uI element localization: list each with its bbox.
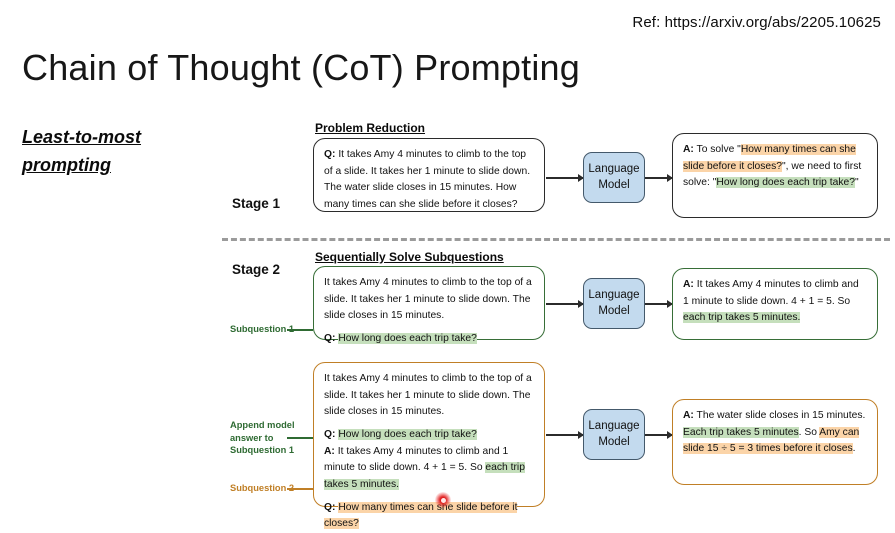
stage2-round1-question-highlight: How long does each trip take? [338, 333, 477, 344]
stage2-round1-answer-highlight: each trip takes 5 minutes. [683, 312, 800, 323]
subquestion-2-label: Subquestion 2 [230, 482, 294, 495]
language-model-label: LanguageModel [588, 162, 639, 193]
question-prefix: Q: [324, 502, 335, 513]
subquestion-2-tick [287, 488, 313, 490]
stage2-round2-answer-box: A: The water slide closes in 15 minutes.… [672, 399, 878, 485]
arrow-prompt-to-model-2 [546, 303, 583, 305]
stage2-round1-question: Q: How long does each trip take? [324, 331, 534, 348]
arrow-prompt-to-model-1 [546, 177, 583, 179]
stage2-round2-q1-highlight: How long does each trip take? [338, 429, 477, 440]
question-prefix: Q: [324, 149, 335, 160]
stage2-round1-answer-box: A: It takes Amy 4 minutes to climb and 1… [672, 268, 878, 340]
arrow-prompt-to-model-3 [546, 434, 583, 436]
stage2-round2-prompt-box: It takes Amy 4 minutes to climb to the t… [313, 362, 545, 507]
stage2-round2-a1-seg1: It takes Amy 4 minutes to climb and 1 mi… [324, 446, 508, 474]
stage1-answer-highlight-green: How long does each trip take? [716, 177, 855, 188]
language-model-box-2: LanguageModel [583, 278, 645, 329]
answer-prefix: A: [324, 446, 335, 457]
stage2-round2-answer-seg2: . So [799, 427, 820, 438]
stage1-prompt-text: It takes Amy 4 minutes to climb to the t… [324, 149, 530, 210]
append-model-answer-label: Append model answer to Subquestion 1 [230, 419, 295, 457]
question-prefix: Q: [324, 429, 335, 440]
stage1-answer-box: A: To solve "How many times can she slid… [672, 133, 878, 218]
answer-prefix: A: [683, 410, 694, 421]
click-indicator-dot [435, 492, 451, 508]
stage1-answer-seg3: " [855, 177, 859, 188]
question-prefix: Q: [324, 333, 335, 344]
stage2-round2-answer-highlight-green: Each trip takes 5 minutes [683, 427, 799, 438]
arrow-model-to-answer-3 [645, 434, 672, 436]
stage2-round2-block2: Q: How many times can she slide before i… [324, 500, 534, 533]
stage2-round2-q2-highlight: How many times can she slide before it c… [324, 502, 517, 530]
stage2-round1-prompt-box: It takes Amy 4 minutes to climb to the t… [313, 266, 545, 340]
stage2-round2-block1: Q: How long does each trip take? A: It t… [324, 427, 534, 494]
stage-1-label: Stage 1 [232, 196, 280, 211]
cot-diagram: Stage 1 Problem Reduction Q: It takes Am… [0, 0, 895, 529]
language-model-label: LanguageModel [588, 288, 639, 319]
arrow-model-to-answer-2 [645, 303, 672, 305]
subquestion-1-label: Subquestion 1 [230, 323, 294, 336]
stage1-prompt-box: Q: It takes Amy 4 minutes to climb to th… [313, 138, 545, 212]
language-model-box-3: LanguageModel [583, 409, 645, 460]
stage2-round1-context: It takes Amy 4 minutes to climb to the t… [324, 275, 534, 325]
language-model-box-1: LanguageModel [583, 152, 645, 203]
append-model-answer-tick [287, 437, 313, 439]
stage-divider [222, 238, 890, 241]
stage1-answer-seg1: To solve " [694, 144, 741, 155]
stage2-round1-answer-seg1: It takes Amy 4 minutes to climb and 1 mi… [683, 279, 859, 307]
problem-reduction-heading: Problem Reduction [315, 121, 425, 135]
stage-2-label: Stage 2 [232, 262, 280, 277]
answer-prefix: A: [683, 144, 694, 155]
stage2-round2-answer-seg3: . [853, 443, 856, 454]
arrow-model-to-answer-1 [645, 177, 672, 179]
stage2-round2-answer-seg1: The water slide closes in 15 minutes. [694, 410, 866, 421]
answer-prefix: A: [683, 279, 694, 290]
sequential-solve-heading: Sequentially Solve Subquestions [315, 250, 504, 264]
subquestion-1-tick [287, 329, 313, 331]
language-model-label: LanguageModel [588, 419, 639, 450]
stage2-round2-context: It takes Amy 4 minutes to climb to the t… [324, 371, 534, 421]
